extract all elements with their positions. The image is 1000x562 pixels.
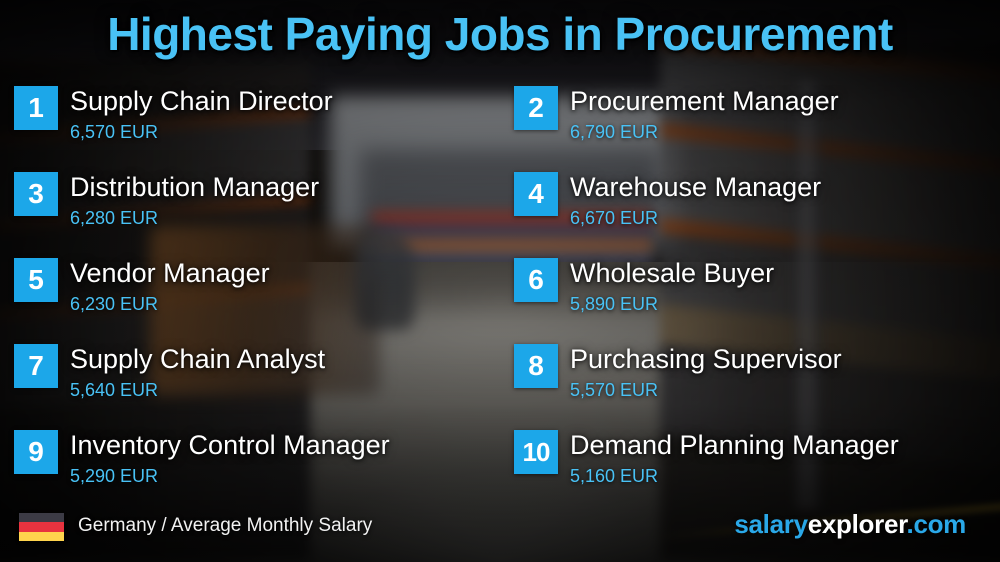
rank-badge-6: 6 (514, 258, 558, 302)
job-row-6[interactable]: 6 Wholesale Buyer 5,890 EUR (514, 256, 1000, 342)
job-title-6: Wholesale Buyer (570, 256, 774, 290)
germany-flag-icon (19, 513, 64, 541)
job-title-3: Distribution Manager (70, 170, 319, 204)
job-title-10: Demand Planning Manager (570, 428, 899, 462)
job-salary-3: 6,280 EUR (70, 205, 319, 231)
page-title: Highest Paying Jobs in Procurement (0, 7, 1000, 61)
job-info-10: Demand Planning Manager 5,160 EUR (570, 428, 899, 489)
rank-badge-9: 9 (14, 430, 58, 474)
job-info-7: Supply Chain Analyst 5,640 EUR (70, 342, 325, 403)
job-salary-4: 6,670 EUR (570, 205, 821, 231)
job-title-8: Purchasing Supervisor (570, 342, 842, 376)
rank-badge-10: 10 (514, 430, 558, 474)
job-row-3[interactable]: 3 Distribution Manager 6,280 EUR (14, 170, 500, 256)
flag-band-red (19, 522, 64, 531)
job-salary-6: 5,890 EUR (570, 291, 774, 317)
country-salary-caption: Germany / Average Monthly Salary (78, 515, 372, 537)
job-info-9: Inventory Control Manager 5,290 EUR (70, 428, 390, 489)
job-title-7: Supply Chain Analyst (70, 342, 325, 376)
brand-domain-text: .com (907, 509, 966, 539)
brand-logo[interactable]: salaryexplorer.com (734, 509, 966, 540)
job-row-5[interactable]: 5 Vendor Manager 6,230 EUR (14, 256, 500, 342)
job-column-left: 1 Supply Chain Director 6,570 EUR 3 Dist… (0, 84, 500, 504)
job-row-1[interactable]: 1 Supply Chain Director 6,570 EUR (14, 84, 500, 170)
rank-badge-5: 5 (14, 258, 58, 302)
job-row-4[interactable]: 4 Warehouse Manager 6,670 EUR (514, 170, 1000, 256)
job-info-4: Warehouse Manager 6,670 EUR (570, 170, 821, 231)
job-salary-10: 5,160 EUR (570, 463, 899, 489)
job-info-2: Procurement Manager 6,790 EUR (570, 84, 839, 145)
job-salary-5: 6,230 EUR (70, 291, 270, 317)
job-row-9[interactable]: 9 Inventory Control Manager 5,290 EUR (14, 428, 500, 514)
rank-badge-2: 2 (514, 86, 558, 130)
flag-band-gold (19, 532, 64, 541)
content-overlay: Highest Paying Jobs in Procurement 1 Sup… (0, 0, 1000, 562)
rank-badge-8: 8 (514, 344, 558, 388)
job-row-10[interactable]: 10 Demand Planning Manager 5,160 EUR (514, 428, 1000, 514)
job-info-1: Supply Chain Director 6,570 EUR (70, 84, 333, 145)
job-title-9: Inventory Control Manager (70, 428, 390, 462)
footer: Germany / Average Monthly Salary salarye… (0, 504, 1000, 562)
job-salary-7: 5,640 EUR (70, 377, 325, 403)
job-salary-1: 6,570 EUR (70, 119, 333, 145)
brand-explorer-text: explorer (808, 509, 907, 539)
job-info-6: Wholesale Buyer 5,890 EUR (570, 256, 774, 317)
job-title-2: Procurement Manager (570, 84, 839, 118)
job-info-5: Vendor Manager 6,230 EUR (70, 256, 270, 317)
job-title-5: Vendor Manager (70, 256, 270, 290)
job-row-7[interactable]: 7 Supply Chain Analyst 5,640 EUR (14, 342, 500, 428)
rank-badge-3: 3 (14, 172, 58, 216)
job-salary-9: 5,290 EUR (70, 463, 390, 489)
job-row-8[interactable]: 8 Purchasing Supervisor 5,570 EUR (514, 342, 1000, 428)
job-salary-8: 5,570 EUR (570, 377, 842, 403)
rank-badge-7: 7 (14, 344, 58, 388)
job-row-2[interactable]: 2 Procurement Manager 6,790 EUR (514, 84, 1000, 170)
rank-badge-4: 4 (514, 172, 558, 216)
job-info-8: Purchasing Supervisor 5,570 EUR (570, 342, 842, 403)
job-salary-2: 6,790 EUR (570, 119, 839, 145)
job-title-4: Warehouse Manager (570, 170, 821, 204)
brand-salary-text: salary (734, 509, 807, 539)
job-info-3: Distribution Manager 6,280 EUR (70, 170, 319, 231)
rank-badge-1: 1 (14, 86, 58, 130)
job-title-1: Supply Chain Director (70, 84, 333, 118)
job-ranking-list: 1 Supply Chain Director 6,570 EUR 3 Dist… (0, 84, 1000, 504)
job-column-right: 2 Procurement Manager 6,790 EUR 4 Wareho… (500, 84, 1000, 504)
flag-band-black (19, 513, 64, 522)
